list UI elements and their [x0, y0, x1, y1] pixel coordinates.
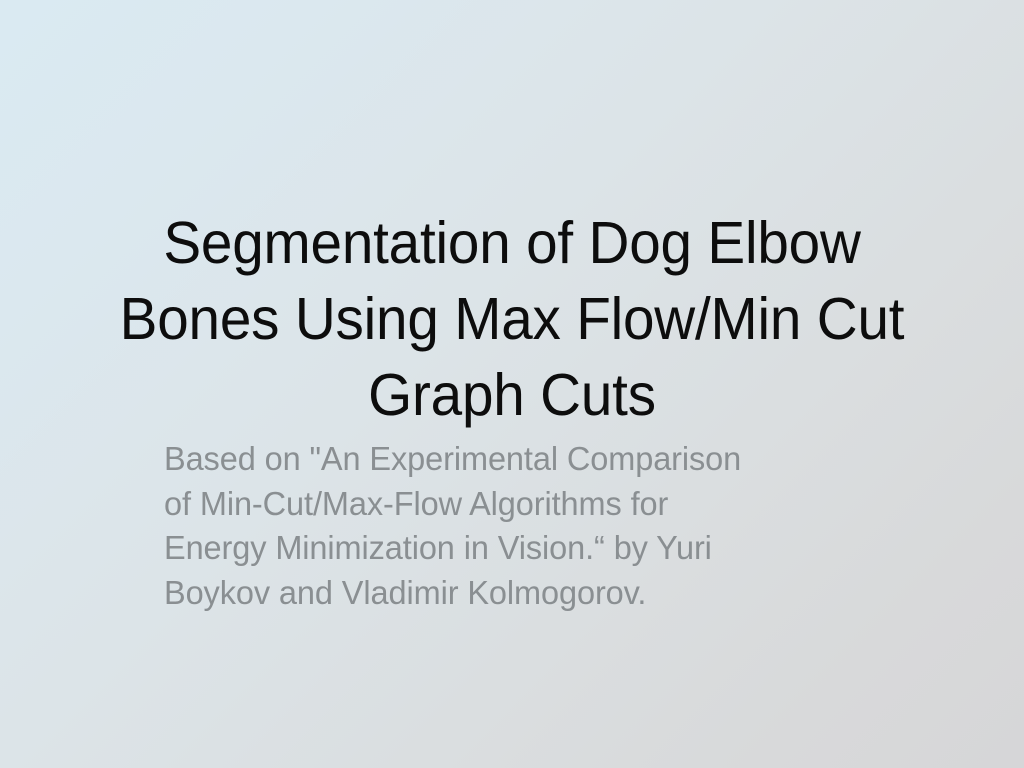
subtitle-line-3: Energy Minimization in Vision.“ by Yuri — [164, 526, 865, 571]
title-slide: Segmentation of Dog Elbow Bones Using Ma… — [0, 0, 1024, 768]
subtitle-line-1: Based on "An Experimental Comparison — [164, 437, 865, 482]
slide-title: Segmentation of Dog Elbow Bones Using Ma… — [75, 205, 949, 433]
title-line-2: Bones Using Max Flow/Min Cut — [92, 281, 931, 357]
slide-subtitle: Based on "An Experimental Comparison of … — [164, 437, 876, 615]
title-line-3: Graph Cuts — [92, 357, 931, 433]
subtitle-line-2: of Min-Cut/Max-Flow Algorithms for — [164, 482, 865, 527]
subtitle-line-4: Boykov and Vladimir Kolmogorov. — [164, 571, 865, 616]
title-line-1: Segmentation of Dog Elbow — [92, 205, 931, 281]
